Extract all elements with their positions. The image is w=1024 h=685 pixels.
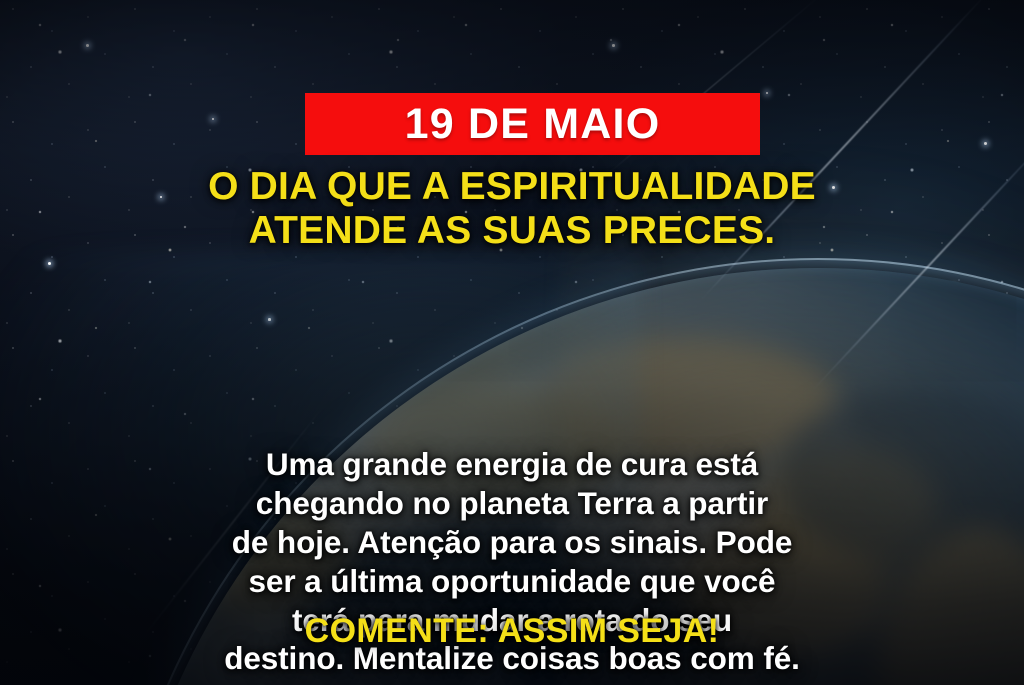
poster-content: 19 DE MAIO O DIA QUE A ESPIRITUALIDADE A… <box>0 0 1024 685</box>
date-banner: 19 DE MAIO <box>305 93 760 155</box>
body-line-4: ser a última oportunidade que você <box>62 562 962 601</box>
body-line-3: de hoje. Atenção para os sinais. Pode <box>62 523 962 562</box>
headline-line-1: O DIA QUE A ESPIRITUALIDADE <box>0 165 1024 209</box>
body-line-1: Uma grande energia de cura está <box>62 445 962 484</box>
call-to-action: COMENTE: ASSIM SEJA! <box>0 614 1024 648</box>
poster-canvas: 19 DE MAIO O DIA QUE A ESPIRITUALIDADE A… <box>0 0 1024 685</box>
headline: O DIA QUE A ESPIRITUALIDADE ATENDE AS SU… <box>0 165 1024 253</box>
date-banner-label: 19 DE MAIO <box>405 103 661 146</box>
headline-line-2: ATENDE AS SUAS PRECES. <box>0 209 1024 253</box>
body-line-2: chegando no planeta Terra a partir <box>62 484 962 523</box>
